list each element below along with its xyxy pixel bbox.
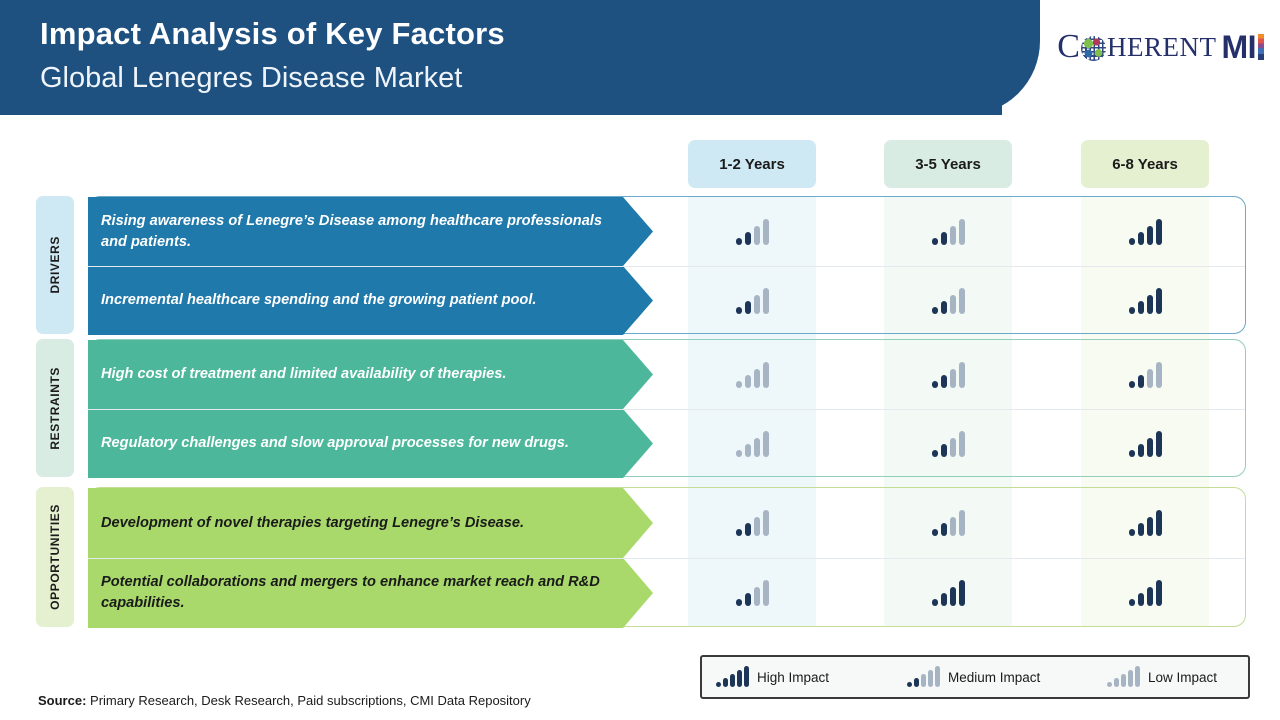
factor-arrow: Development of novel therapies targeting…	[88, 488, 653, 558]
impact-bars-medium	[736, 510, 769, 536]
impact-bar-segment	[745, 301, 751, 314]
impact-bar-segment	[723, 678, 728, 687]
impact-bar-segment	[763, 580, 769, 606]
group-rows-container: High cost of treatment and limited avail…	[88, 339, 1246, 477]
brand-logo: C HERENT MI	[1057, 30, 1264, 64]
category-tab-drivers[interactable]: DRIVERS	[36, 196, 74, 334]
impact-bar-segment	[932, 599, 938, 606]
impact-bar-segment	[1107, 682, 1112, 687]
impact-bar-segment	[1147, 295, 1153, 314]
group-rows-container: Rising awareness of Lenegre’s Disease am…	[88, 196, 1246, 334]
impact-bars-medium	[1129, 362, 1162, 388]
column-header-2[interactable]: 3-5 Years	[884, 140, 1012, 188]
impact-bar-segment	[736, 238, 742, 245]
impact-bar-segment	[736, 599, 742, 606]
impact-bar-segment	[950, 226, 956, 245]
impact-bar-segment	[763, 362, 769, 388]
category-tab-label: RESTRAINTS	[48, 367, 62, 450]
header-curve-decoration	[960, 0, 1040, 115]
impact-cell-1-2-years[interactable]	[688, 409, 816, 478]
impact-bar-segment	[736, 307, 742, 314]
logo-letter-c: C	[1057, 30, 1080, 64]
factor-arrow: Rising awareness of Lenegre’s Disease am…	[88, 197, 653, 266]
impact-bar-segment	[1121, 674, 1126, 687]
impact-cell-6-8-years[interactable]	[1081, 266, 1209, 335]
impact-bars-medium	[932, 510, 965, 536]
impact-bars-medium	[736, 219, 769, 245]
impact-cell-6-8-years[interactable]	[1081, 340, 1209, 409]
impact-bar-segment	[914, 678, 919, 687]
column-header-3[interactable]: 6-8 Years	[1081, 140, 1209, 188]
impact-bar-segment	[1129, 307, 1135, 314]
impact-bar-segment	[928, 670, 933, 687]
impact-bar-segment	[763, 510, 769, 536]
impact-bars-medium	[907, 667, 940, 687]
factor-row[interactable]: Potential collaborations and mergers to …	[88, 558, 1245, 628]
logo-wordmark: HERENT	[1107, 34, 1216, 61]
impact-bar-segment	[941, 301, 947, 314]
impact-group-restraints: RESTRAINTSHigh cost of treatment and lim…	[36, 339, 1246, 477]
legend-item-medium: Medium Impact	[907, 667, 1040, 687]
impact-bar-segment	[932, 238, 938, 245]
column-header-label: 1-2 Years	[719, 156, 785, 173]
impact-bar-segment	[736, 450, 742, 457]
impact-cell-3-5-years[interactable]	[884, 488, 1012, 558]
impact-bar-segment	[1156, 580, 1162, 606]
impact-bar-segment	[907, 682, 912, 687]
factor-row[interactable]: Regulatory challenges and slow approval …	[88, 409, 1245, 478]
page-subtitle: Global Lenegres Disease Market	[40, 56, 505, 100]
impact-bar-segment	[1147, 226, 1153, 245]
factor-arrow: Regulatory challenges and slow approval …	[88, 409, 653, 478]
impact-bar-segment	[754, 587, 760, 606]
impact-bars-medium	[932, 362, 965, 388]
category-tab-restraints[interactable]: RESTRAINTS	[36, 339, 74, 477]
impact-group-opportunities: OPPORTUNITIESDevelopment of novel therap…	[36, 487, 1246, 627]
impact-bar-segment	[1138, 232, 1144, 245]
impact-cell-6-8-years[interactable]	[1081, 197, 1209, 266]
impact-cell-1-2-years[interactable]	[688, 488, 816, 558]
impact-bar-segment	[941, 232, 947, 245]
source-note: Source: Primary Research, Desk Research,…	[38, 693, 531, 708]
impact-bar-segment	[941, 593, 947, 606]
impact-bar-segment	[1147, 517, 1153, 536]
impact-bar-segment	[1156, 510, 1162, 536]
column-header-label: 6-8 Years	[1112, 156, 1178, 173]
impact-bar-segment	[1114, 678, 1119, 687]
impact-bar-segment	[1129, 529, 1135, 536]
factor-arrow: High cost of treatment and limited avail…	[88, 340, 653, 409]
impact-bar-segment	[1129, 599, 1135, 606]
impact-bar-segment	[1147, 438, 1153, 457]
impact-cell-1-2-years[interactable]	[688, 340, 816, 409]
factor-row[interactable]: Development of novel therapies targeting…	[88, 488, 1245, 558]
impact-bar-segment	[1138, 375, 1144, 388]
factor-row[interactable]: High cost of treatment and limited avail…	[88, 340, 1245, 409]
legend: High ImpactMedium ImpactLow Impact	[700, 655, 1250, 699]
impact-bar-segment	[959, 431, 965, 457]
impact-cells	[653, 488, 1245, 558]
factor-arrow: Potential collaborations and mergers to …	[88, 558, 653, 628]
category-tab-label: OPPORTUNITIES	[48, 504, 62, 610]
impact-cell-6-8-years[interactable]	[1081, 488, 1209, 558]
source-text: Primary Research, Desk Research, Paid su…	[86, 693, 530, 708]
category-tab-label: DRIVERS	[48, 236, 62, 294]
group-rows-container: Development of novel therapies targeting…	[88, 487, 1246, 627]
impact-cell-6-8-years[interactable]	[1081, 558, 1209, 628]
impact-bar-segment	[959, 219, 965, 245]
header-text-block: Impact Analysis of Key Factors Global Le…	[40, 12, 505, 100]
legend-label: Low Impact	[1148, 670, 1217, 685]
impact-bar-segment	[941, 523, 947, 536]
impact-bar-segment	[1156, 219, 1162, 245]
impact-bars-high	[932, 580, 965, 606]
column-header-1[interactable]: 1-2 Years	[688, 140, 816, 188]
impact-bars-medium	[932, 288, 965, 314]
impact-bar-segment	[763, 431, 769, 457]
impact-bar-segment	[959, 510, 965, 536]
impact-bar-segment	[941, 375, 947, 388]
impact-bars-high	[1129, 219, 1162, 245]
impact-bar-segment	[959, 362, 965, 388]
factor-text: High cost of treatment and limited avail…	[101, 364, 506, 385]
factor-row[interactable]: Rising awareness of Lenegre’s Disease am…	[88, 197, 1245, 266]
impact-bar-segment	[736, 529, 742, 536]
factor-text: Rising awareness of Lenegre’s Disease am…	[101, 211, 613, 253]
impact-bar-segment	[950, 369, 956, 388]
impact-group-drivers: DRIVERSRising awareness of Lenegre’s Dis…	[36, 196, 1246, 334]
impact-bar-segment	[754, 517, 760, 536]
impact-bar-segment	[1147, 587, 1153, 606]
impact-bar-segment	[763, 219, 769, 245]
impact-bars-medium	[736, 288, 769, 314]
factor-text: Potential collaborations and mergers to …	[101, 572, 613, 614]
impact-bar-segment	[754, 226, 760, 245]
impact-bars-low	[736, 431, 769, 457]
impact-bar-segment	[935, 666, 940, 687]
legend-label: High Impact	[757, 670, 829, 685]
impact-cells	[653, 558, 1245, 628]
impact-bar-segment	[745, 593, 751, 606]
impact-bar-segment	[754, 295, 760, 314]
impact-bars-high	[1129, 580, 1162, 606]
row-divider	[88, 409, 1245, 410]
impact-bar-segment	[1138, 593, 1144, 606]
impact-bar-segment	[763, 288, 769, 314]
impact-bar-segment	[1135, 666, 1140, 687]
factor-arrow: Incremental healthcare spending and the …	[88, 266, 653, 335]
impact-cells	[653, 197, 1245, 266]
factor-row[interactable]: Incremental healthcare spending and the …	[88, 266, 1245, 335]
impact-cells	[653, 340, 1245, 409]
legend-label: Medium Impact	[948, 670, 1040, 685]
column-header-label: 3-5 Years	[915, 156, 981, 173]
impact-bar-segment	[1128, 670, 1133, 687]
impact-bars-high	[1129, 431, 1162, 457]
impact-bar-segment	[754, 438, 760, 457]
impact-bar-segment	[1156, 362, 1162, 388]
factor-text: Regulatory challenges and slow approval …	[101, 433, 569, 454]
impact-bar-segment	[932, 307, 938, 314]
row-divider	[88, 558, 1245, 559]
impact-bar-segment	[1156, 288, 1162, 314]
impact-bar-segment	[959, 580, 965, 606]
impact-cell-3-5-years[interactable]	[884, 266, 1012, 335]
impact-bar-segment	[950, 517, 956, 536]
impact-cell-1-2-years[interactable]	[688, 266, 816, 335]
legend-item-low: Low Impact	[1107, 667, 1217, 687]
legend-item-high: High Impact	[716, 667, 829, 687]
impact-bar-segment	[716, 682, 721, 687]
impact-cells	[653, 266, 1245, 335]
logo-accent-bar	[1258, 34, 1264, 60]
impact-bars-low	[736, 362, 769, 388]
globe-icon	[1081, 36, 1106, 61]
impact-bar-segment	[950, 295, 956, 314]
impact-bar-segment	[745, 232, 751, 245]
impact-bar-segment	[736, 381, 742, 388]
impact-cell-6-8-years[interactable]	[1081, 409, 1209, 478]
impact-bars-high	[716, 667, 749, 687]
impact-bar-segment	[1129, 450, 1135, 457]
impact-bar-segment	[959, 288, 965, 314]
impact-bars-high	[1129, 510, 1162, 536]
impact-bar-segment	[1138, 444, 1144, 457]
impact-bars-high	[1129, 288, 1162, 314]
impact-bar-segment	[950, 438, 956, 457]
category-tab-opportunities[interactable]: OPPORTUNITIES	[36, 487, 74, 627]
impact-bar-segment	[1147, 369, 1153, 388]
impact-cell-3-5-years[interactable]	[884, 197, 1012, 266]
impact-bar-segment	[754, 369, 760, 388]
impact-cell-1-2-years[interactable]	[688, 558, 816, 628]
impact-bar-segment	[1156, 431, 1162, 457]
impact-cell-3-5-years[interactable]	[884, 409, 1012, 478]
impact-bar-segment	[744, 666, 749, 687]
impact-bar-segment	[745, 375, 751, 388]
impact-bar-segment	[1129, 381, 1135, 388]
impact-cells	[653, 409, 1245, 478]
impact-bar-segment	[745, 444, 751, 457]
impact-cell-1-2-years[interactable]	[688, 197, 816, 266]
impact-bar-segment	[1138, 523, 1144, 536]
factor-text: Development of novel therapies targeting…	[101, 513, 524, 534]
slide-root: Impact Analysis of Key Factors Global Le…	[0, 0, 1280, 720]
row-divider	[88, 266, 1245, 267]
impact-cell-3-5-years[interactable]	[884, 340, 1012, 409]
impact-cell-3-5-years[interactable]	[884, 558, 1012, 628]
impact-bar-segment	[941, 444, 947, 457]
impact-bar-segment	[921, 674, 926, 687]
impact-bar-segment	[730, 674, 735, 687]
impact-bar-segment	[745, 523, 751, 536]
impact-bar-segment	[932, 450, 938, 457]
page-title: Impact Analysis of Key Factors	[40, 12, 505, 56]
impact-bar-segment	[1129, 238, 1135, 245]
impact-bars-medium	[932, 431, 965, 457]
impact-bars-medium	[932, 219, 965, 245]
impact-bar-segment	[932, 381, 938, 388]
logo-mi: MI	[1221, 31, 1256, 63]
impact-bar-segment	[737, 670, 742, 687]
impact-bar-segment	[1138, 301, 1144, 314]
impact-bars-low	[1107, 667, 1140, 687]
factor-text: Incremental healthcare spending and the …	[101, 290, 536, 311]
source-label: Source:	[38, 693, 86, 708]
impact-bar-segment	[950, 587, 956, 606]
impact-bar-segment	[932, 529, 938, 536]
impact-bars-medium	[736, 580, 769, 606]
